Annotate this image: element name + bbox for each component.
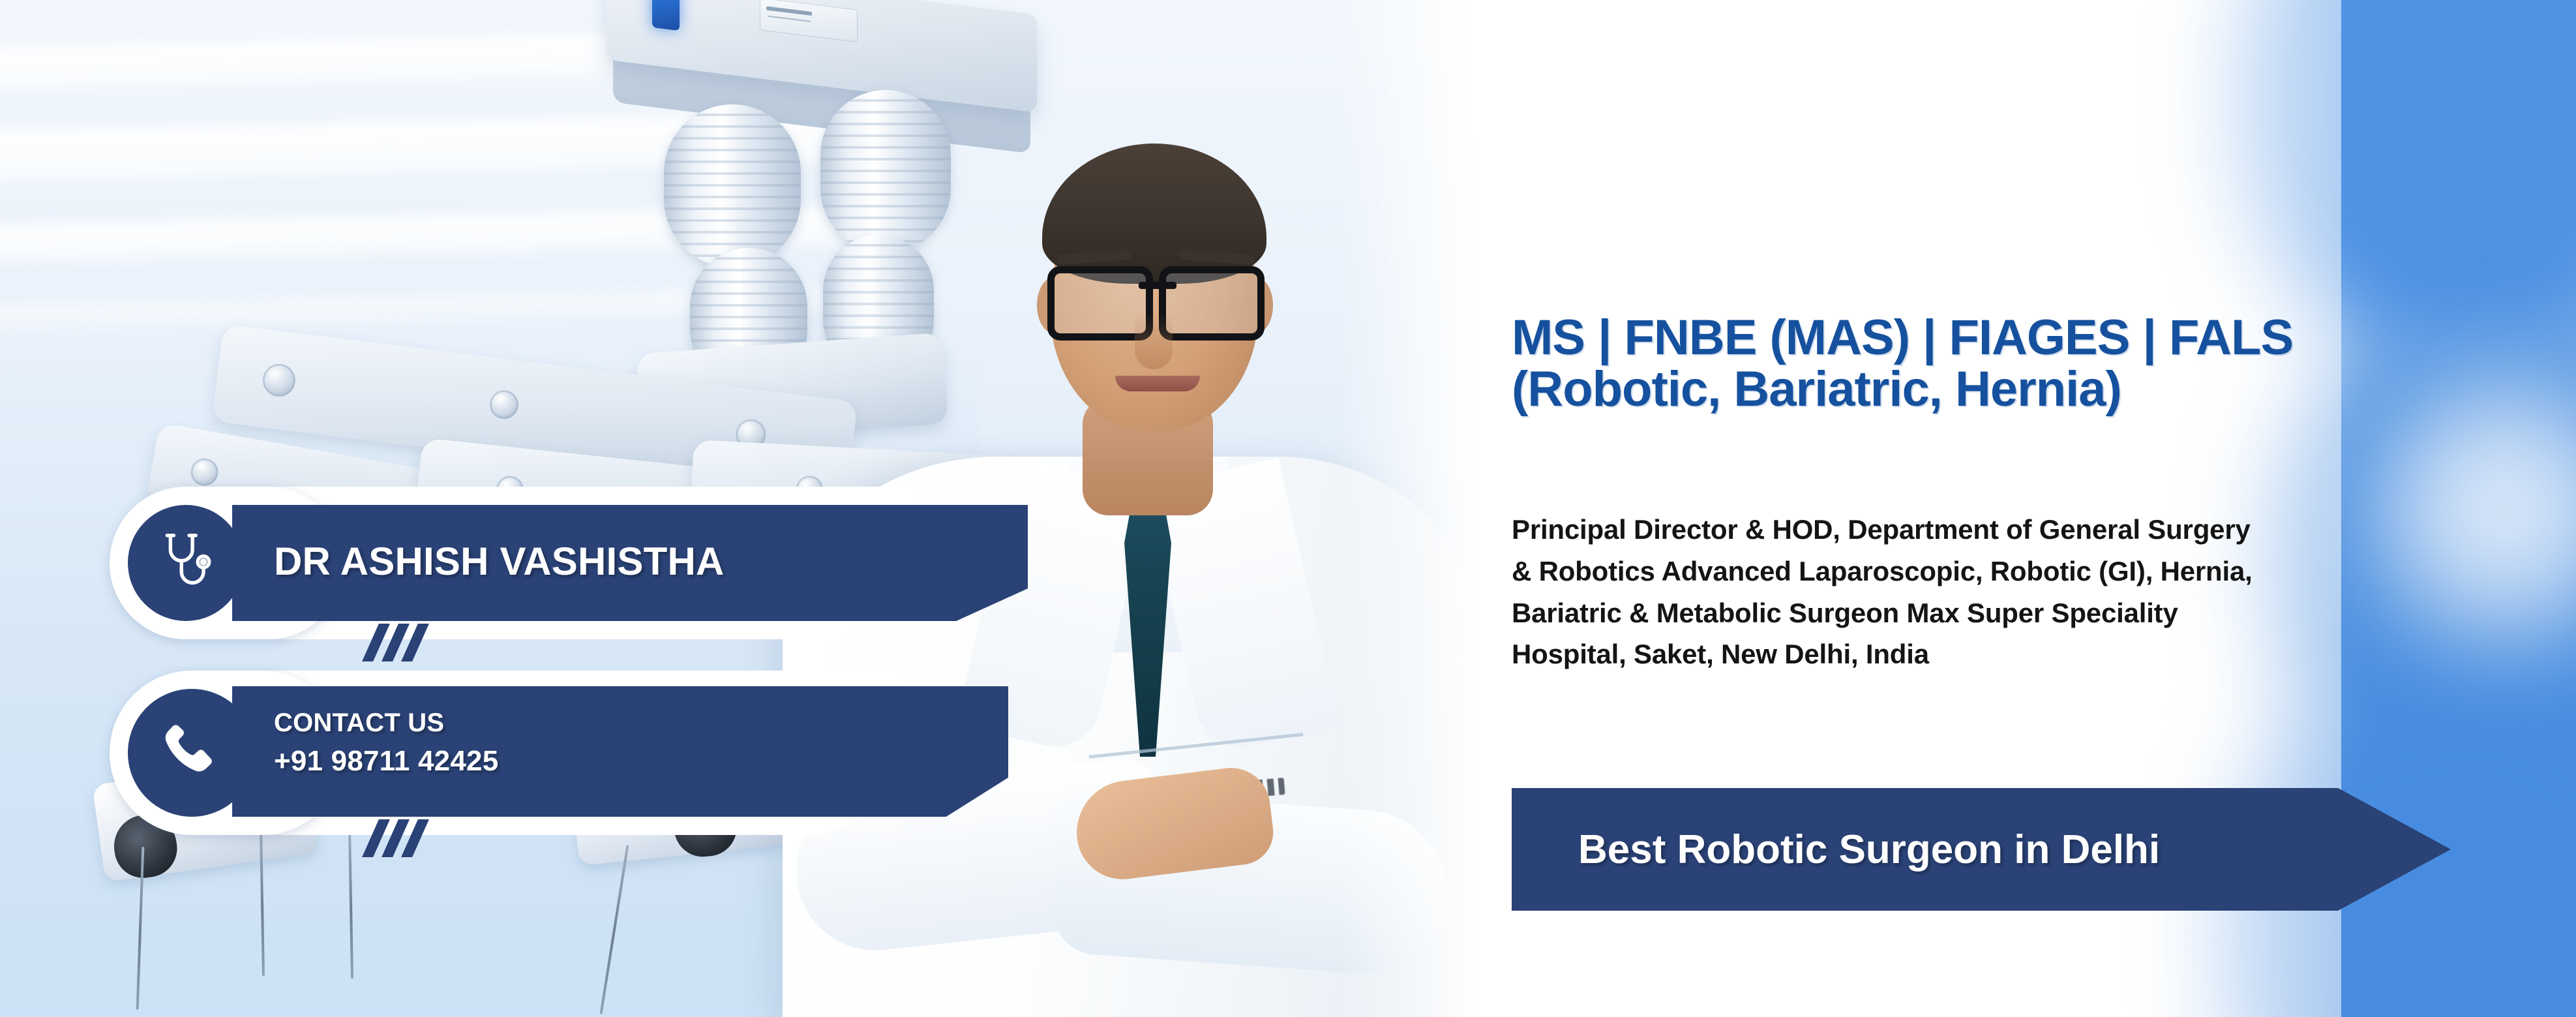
description-line-4: Hospital, Saket, New Delhi, India [1512,633,2516,675]
headline-line-1: MS | FNBE (MAS) | FIAGES | FALS [1512,312,2529,363]
eyeglass-bridge [1139,282,1176,289]
doctor-name-label: DR ASHISH VASHISTHA [274,539,725,584]
headline-line-2: (Robotic, Bariatric, Hernia) [1512,363,2529,415]
doctor-name-badge[interactable]: DR ASHISH VASHISTHA [110,475,931,651]
doctor-profile-banner: DR ASHISH VASHISTHA CONTACT US +91 98711… [0,0,2576,1017]
contact-badge[interactable]: CONTACT US +91 98711 42425 [110,659,912,848]
decorative-slashes [370,624,421,661]
robot-label-plate [760,0,858,42]
contact-us-label: CONTACT US [274,708,444,738]
credentials-description: Principal Director & HOD, Department of … [1512,509,2516,675]
eyeglass-lens-right [1159,266,1265,341]
doctor-nose [1135,313,1173,369]
robot-arm-bolt [488,389,520,421]
best-surgeon-ribbon[interactable]: Best Robotic Surgeon in Delhi [1512,788,2451,911]
credentials-panel: MS | FNBE (MAS) | FIAGES | FALS (Robotic… [1512,0,2529,1017]
phone-icon [128,689,256,817]
doctor-mouth [1115,376,1200,391]
photo-edge-fade [1337,0,1506,1017]
description-line-3: Bariatric & Metabolic Surgeon Max Super … [1512,592,2516,634]
contact-phone-number[interactable]: +91 98711 42425 [274,745,498,778]
decorative-slashes [370,819,421,857]
description-line-2: & Robotics Advanced Laparoscopic, Roboti… [1512,551,2516,592]
robot-arm-bolt [261,362,297,399]
stethoscope-icon [128,505,244,621]
description-line-1: Principal Director & HOD, Department of … [1512,509,2516,551]
robot-status-led [652,0,680,31]
credentials-headline: MS | FNBE (MAS) | FIAGES | FALS (Robotic… [1512,312,2529,415]
ribbon-label: Best Robotic Surgeon in Delhi [1578,827,2160,873]
